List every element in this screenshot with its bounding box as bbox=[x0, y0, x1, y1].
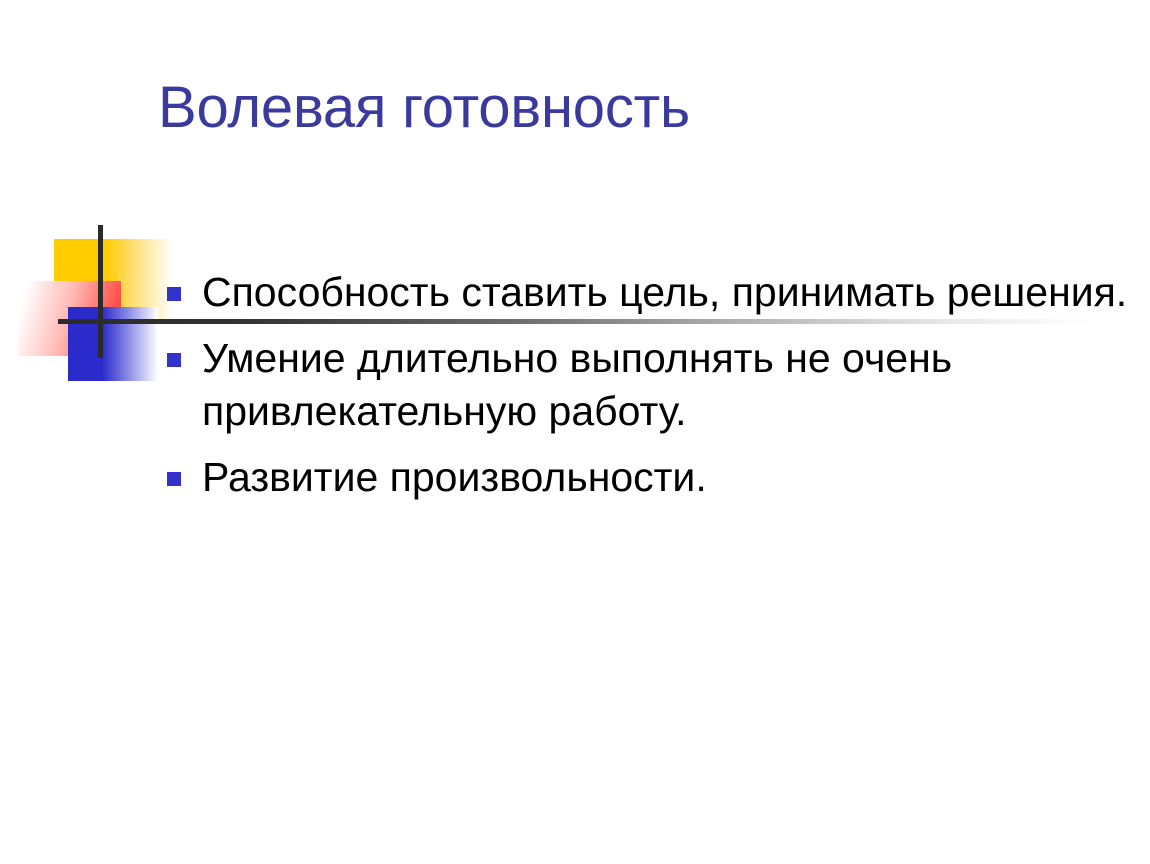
list-item-text: Способность ставить цель, принимать реше… bbox=[202, 266, 1131, 318]
list-item-text: Умение длительно выполнять не очень прив… bbox=[202, 332, 1131, 437]
square-bullet-icon bbox=[167, 472, 181, 486]
slide-bullet-list: Способность ставить цель, принимать реше… bbox=[166, 266, 1131, 518]
slide-decoration-motif bbox=[0, 100, 1150, 270]
list-item: Умение длительно выполнять не очень прив… bbox=[166, 332, 1131, 437]
list-item-text: Развитие произвольности. bbox=[202, 451, 1131, 503]
square-bullet-icon bbox=[167, 287, 181, 301]
vertical-rule-decor bbox=[98, 225, 103, 358]
presentation-slide: Волевая готовность Способность ставить ц… bbox=[0, 0, 1150, 864]
list-item: Способность ставить цель, принимать реше… bbox=[166, 266, 1131, 318]
list-item: Развитие произвольности. bbox=[166, 451, 1131, 503]
square-bullet-icon bbox=[167, 353, 181, 367]
